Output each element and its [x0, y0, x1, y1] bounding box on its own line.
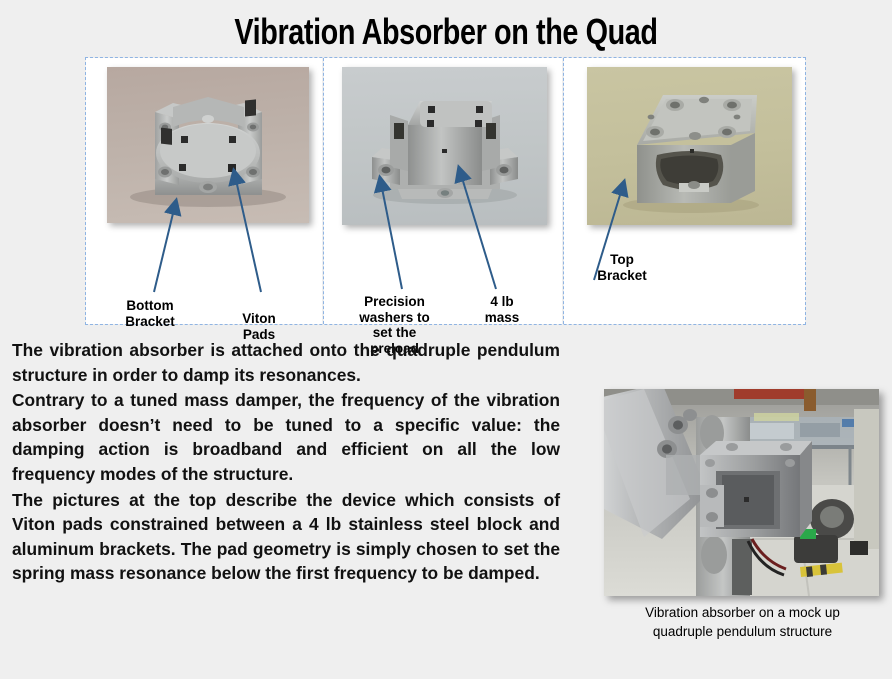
photo-top-bracket	[587, 67, 792, 225]
picture-panel-assembled-absorber: Precision washers to set the preload 4 l…	[324, 58, 562, 324]
label-bottom-bracket: Bottom Bracket	[95, 298, 205, 329]
body-text: The vibration absorber is attached onto …	[12, 338, 560, 587]
body-paragraph-1: The vibration absorber is attached onto …	[12, 338, 560, 387]
picture-panel-top-bracket: Top Bracket	[564, 58, 805, 324]
body-paragraph-3: The pictures at the top describe the dev…	[12, 488, 560, 586]
photo-bottom-bracket	[107, 67, 309, 223]
page-title: Vibration Absorber on the Quad	[89, 12, 803, 52]
photo-assembled-absorber	[342, 67, 547, 225]
picture-band: Bottom Bracket Viton Pads	[85, 57, 806, 325]
label-top-bracket: Top Bracket	[562, 252, 682, 283]
photo-mockup-quadruple-pendulum	[604, 389, 879, 596]
slide: Vibration Absorber on the Quad	[0, 0, 892, 679]
picture-panel-bottom-bracket: Bottom Bracket Viton Pads	[86, 58, 322, 324]
photo-caption: Vibration absorber on a mock up quadrupl…	[600, 603, 885, 641]
body-paragraph-2: Contrary to a tuned mass damper, the fre…	[12, 388, 560, 486]
label-four-lb-mass: 4 lb mass	[459, 294, 545, 325]
